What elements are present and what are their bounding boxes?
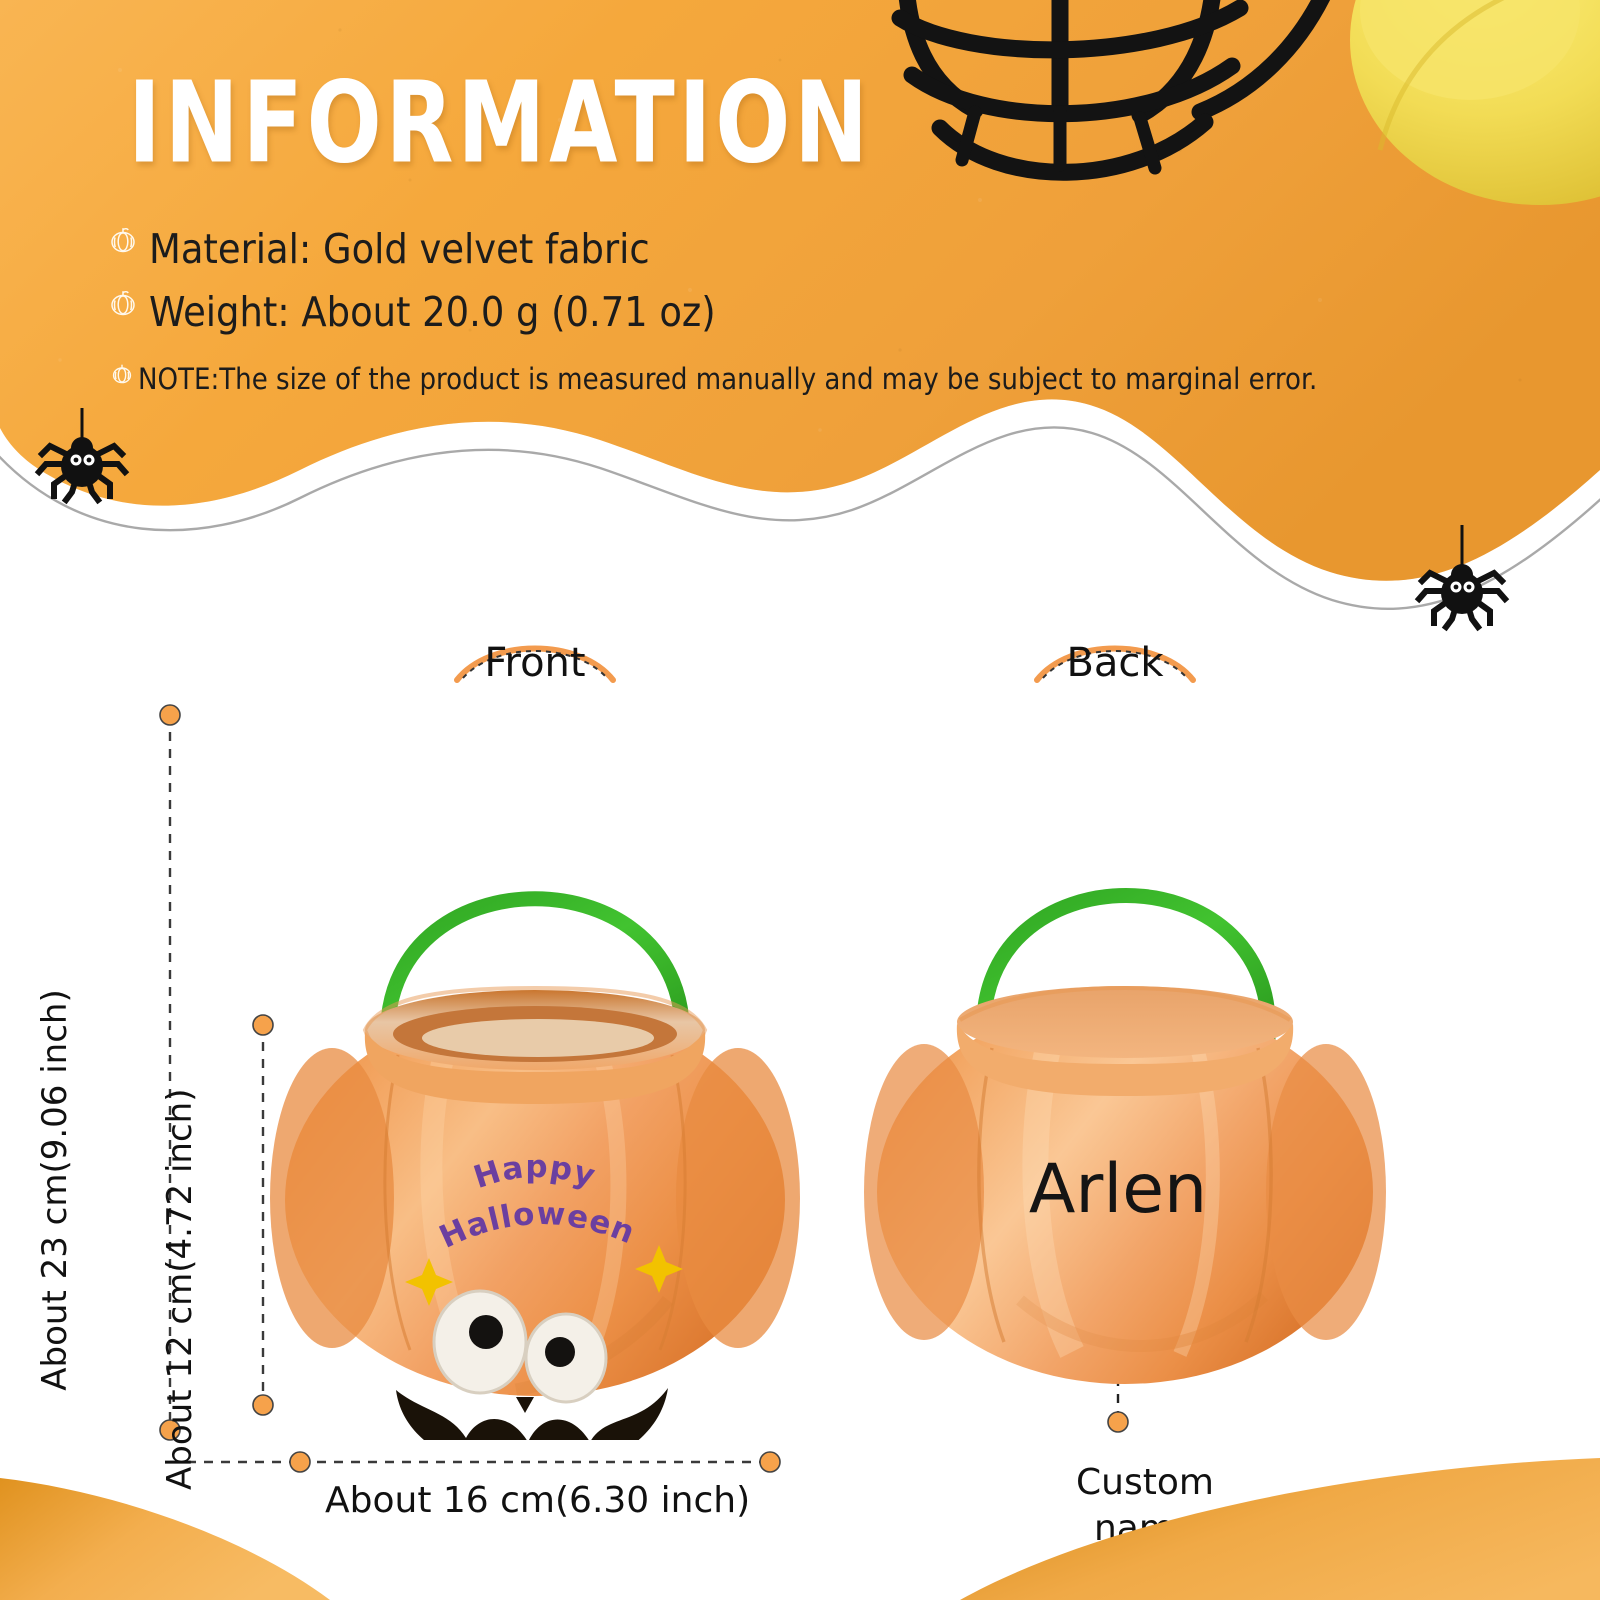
view-label-front: Front [385,618,685,664]
information-banner: INFORMATION Material: Gold velvet fabric [0,0,1600,620]
pumpkin-icon [110,298,136,326]
pumpkin-icon [110,235,136,263]
dimension-height-total: About 23 cm(9.06 inch) [35,975,75,1405]
page-title: INFORMATION [128,58,872,189]
view-label-text: Back [965,640,1265,686]
info-note: NOTE:The size of the product is measured… [112,362,1317,396]
view-label-back: Back [965,618,1265,664]
view-label-text: Front [385,640,685,686]
spider-icon [32,408,132,512]
product-image-front: Happy Halloween [270,700,800,1444]
info-item-material: Material: Gold velvet fabric [110,225,650,273]
bottom-decoration [0,1430,1600,1600]
info-note-label: NOTE:The size of the product is measured… [138,362,1317,396]
info-item-label: Material: Gold velvet fabric [149,225,650,273]
info-item-label: Weight: About 20.0 g (0.71 oz) [149,288,716,336]
product-image-back: Arlen [860,700,1390,1444]
info-item-weight: Weight: About 20.0 g (0.71 oz) [110,288,716,336]
custom-name-embroidery: Arlen [1029,1150,1207,1229]
pumpkin-icon [112,368,132,390]
